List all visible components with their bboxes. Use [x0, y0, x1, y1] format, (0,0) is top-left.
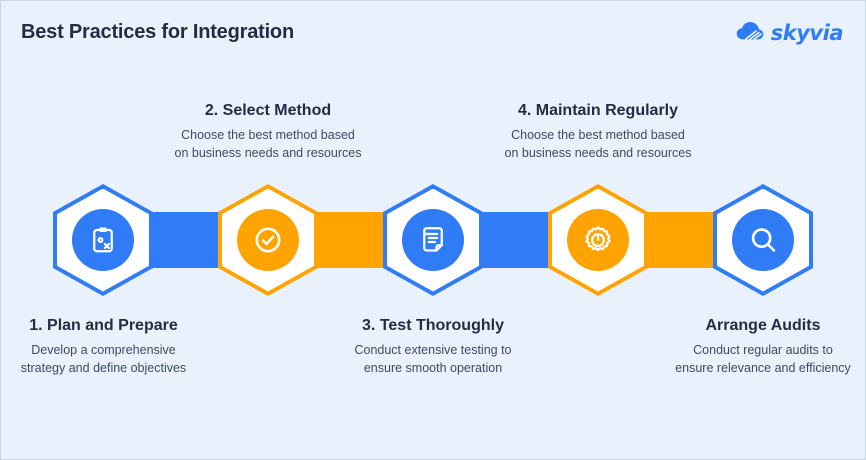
brand-logo: skyvia	[735, 20, 843, 47]
caption-step-4: 4. Maintain Regularly Choose the best me…	[473, 101, 723, 162]
process-flow	[1, 184, 866, 296]
caption-description: Conduct extensive testing to ensure smoo…	[308, 341, 558, 377]
gear-icon	[582, 224, 614, 256]
caption-title: 1. Plan and Prepare	[0, 316, 226, 336]
step-icon-disc	[567, 209, 629, 271]
search-icon	[747, 224, 779, 256]
infographic-canvas: Best Practices for Integration skyvia	[0, 0, 866, 460]
step-icon-disc	[402, 209, 464, 271]
caption-description: Choose the best method based on business…	[143, 126, 393, 162]
caption-title: 3. Test Thoroughly	[308, 316, 558, 336]
caption-title: 2. Select Method	[143, 101, 393, 121]
page-title: Best Practices for Integration	[21, 21, 294, 44]
step-icon-disc	[72, 209, 134, 271]
clipboard-icon	[88, 225, 118, 255]
step-node-4[interactable]	[548, 184, 648, 296]
caption-title: 4. Maintain Regularly	[473, 101, 723, 121]
caption-description: Conduct regular audits to ensure relevan…	[638, 341, 866, 377]
check-circle-icon	[252, 224, 284, 256]
document-icon	[418, 225, 448, 255]
caption-step-3: 3. Test Thoroughly Conduct extensive tes…	[308, 316, 558, 377]
caption-description: Choose the best method based on business…	[473, 126, 723, 162]
caption-step-2: 2. Select Method Choose the best method …	[143, 101, 393, 162]
caption-step-1: 1. Plan and Prepare Develop a comprehens…	[0, 316, 226, 377]
step-icon-disc	[237, 209, 299, 271]
caption-step-5: Arrange Audits Conduct regular audits to…	[638, 316, 866, 377]
cloud-icon	[735, 20, 765, 47]
step-node-1[interactable]	[53, 184, 153, 296]
caption-description: Develop a comprehensive strategy and def…	[0, 341, 226, 377]
step-node-5[interactable]	[713, 184, 813, 296]
step-node-3[interactable]	[383, 184, 483, 296]
brand-name: skyvia	[771, 23, 843, 44]
caption-title: Arrange Audits	[638, 316, 866, 336]
step-node-2[interactable]	[218, 184, 318, 296]
step-icon-disc	[732, 209, 794, 271]
